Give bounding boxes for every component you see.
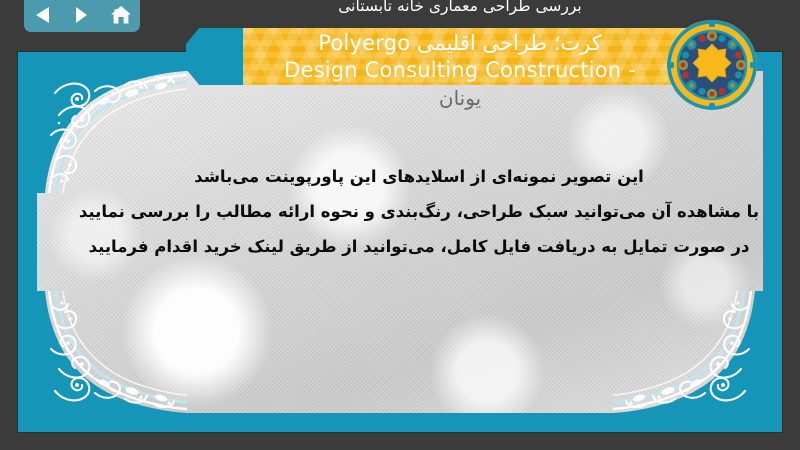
home-button[interactable] [106,2,136,28]
body-line-1: این تصویر نمونه‌ای از اسلایدهای این پاور… [37,159,763,194]
slide-body-text: این تصویر نمونه‌ای از اسلایدهای این پاور… [37,159,763,264]
body-line-3: در صورت تمایل به دریافت فایل کامل، می‌تو… [37,229,763,264]
back-button[interactable] [28,2,58,28]
body-line-2: با مشاهده آن می‌توانید سبک طراحی، رنگ‌بن… [37,194,763,229]
title-line-persian-top: بررسی طراحی معماری خانه تابستانی [200,0,720,15]
mandala-medallion-icon [665,18,759,112]
persian-floral-corner-icon [37,291,187,413]
triangle-left-icon [35,6,52,24]
navigation-bar [24,0,140,32]
home-icon [110,5,132,25]
forward-button[interactable] [67,2,97,28]
persian-floral-corner-icon [613,291,763,413]
slide-content-area: این تصویر نمونه‌ای از اسلایدهای این پاور… [37,71,763,413]
triangle-right-icon [75,6,88,24]
